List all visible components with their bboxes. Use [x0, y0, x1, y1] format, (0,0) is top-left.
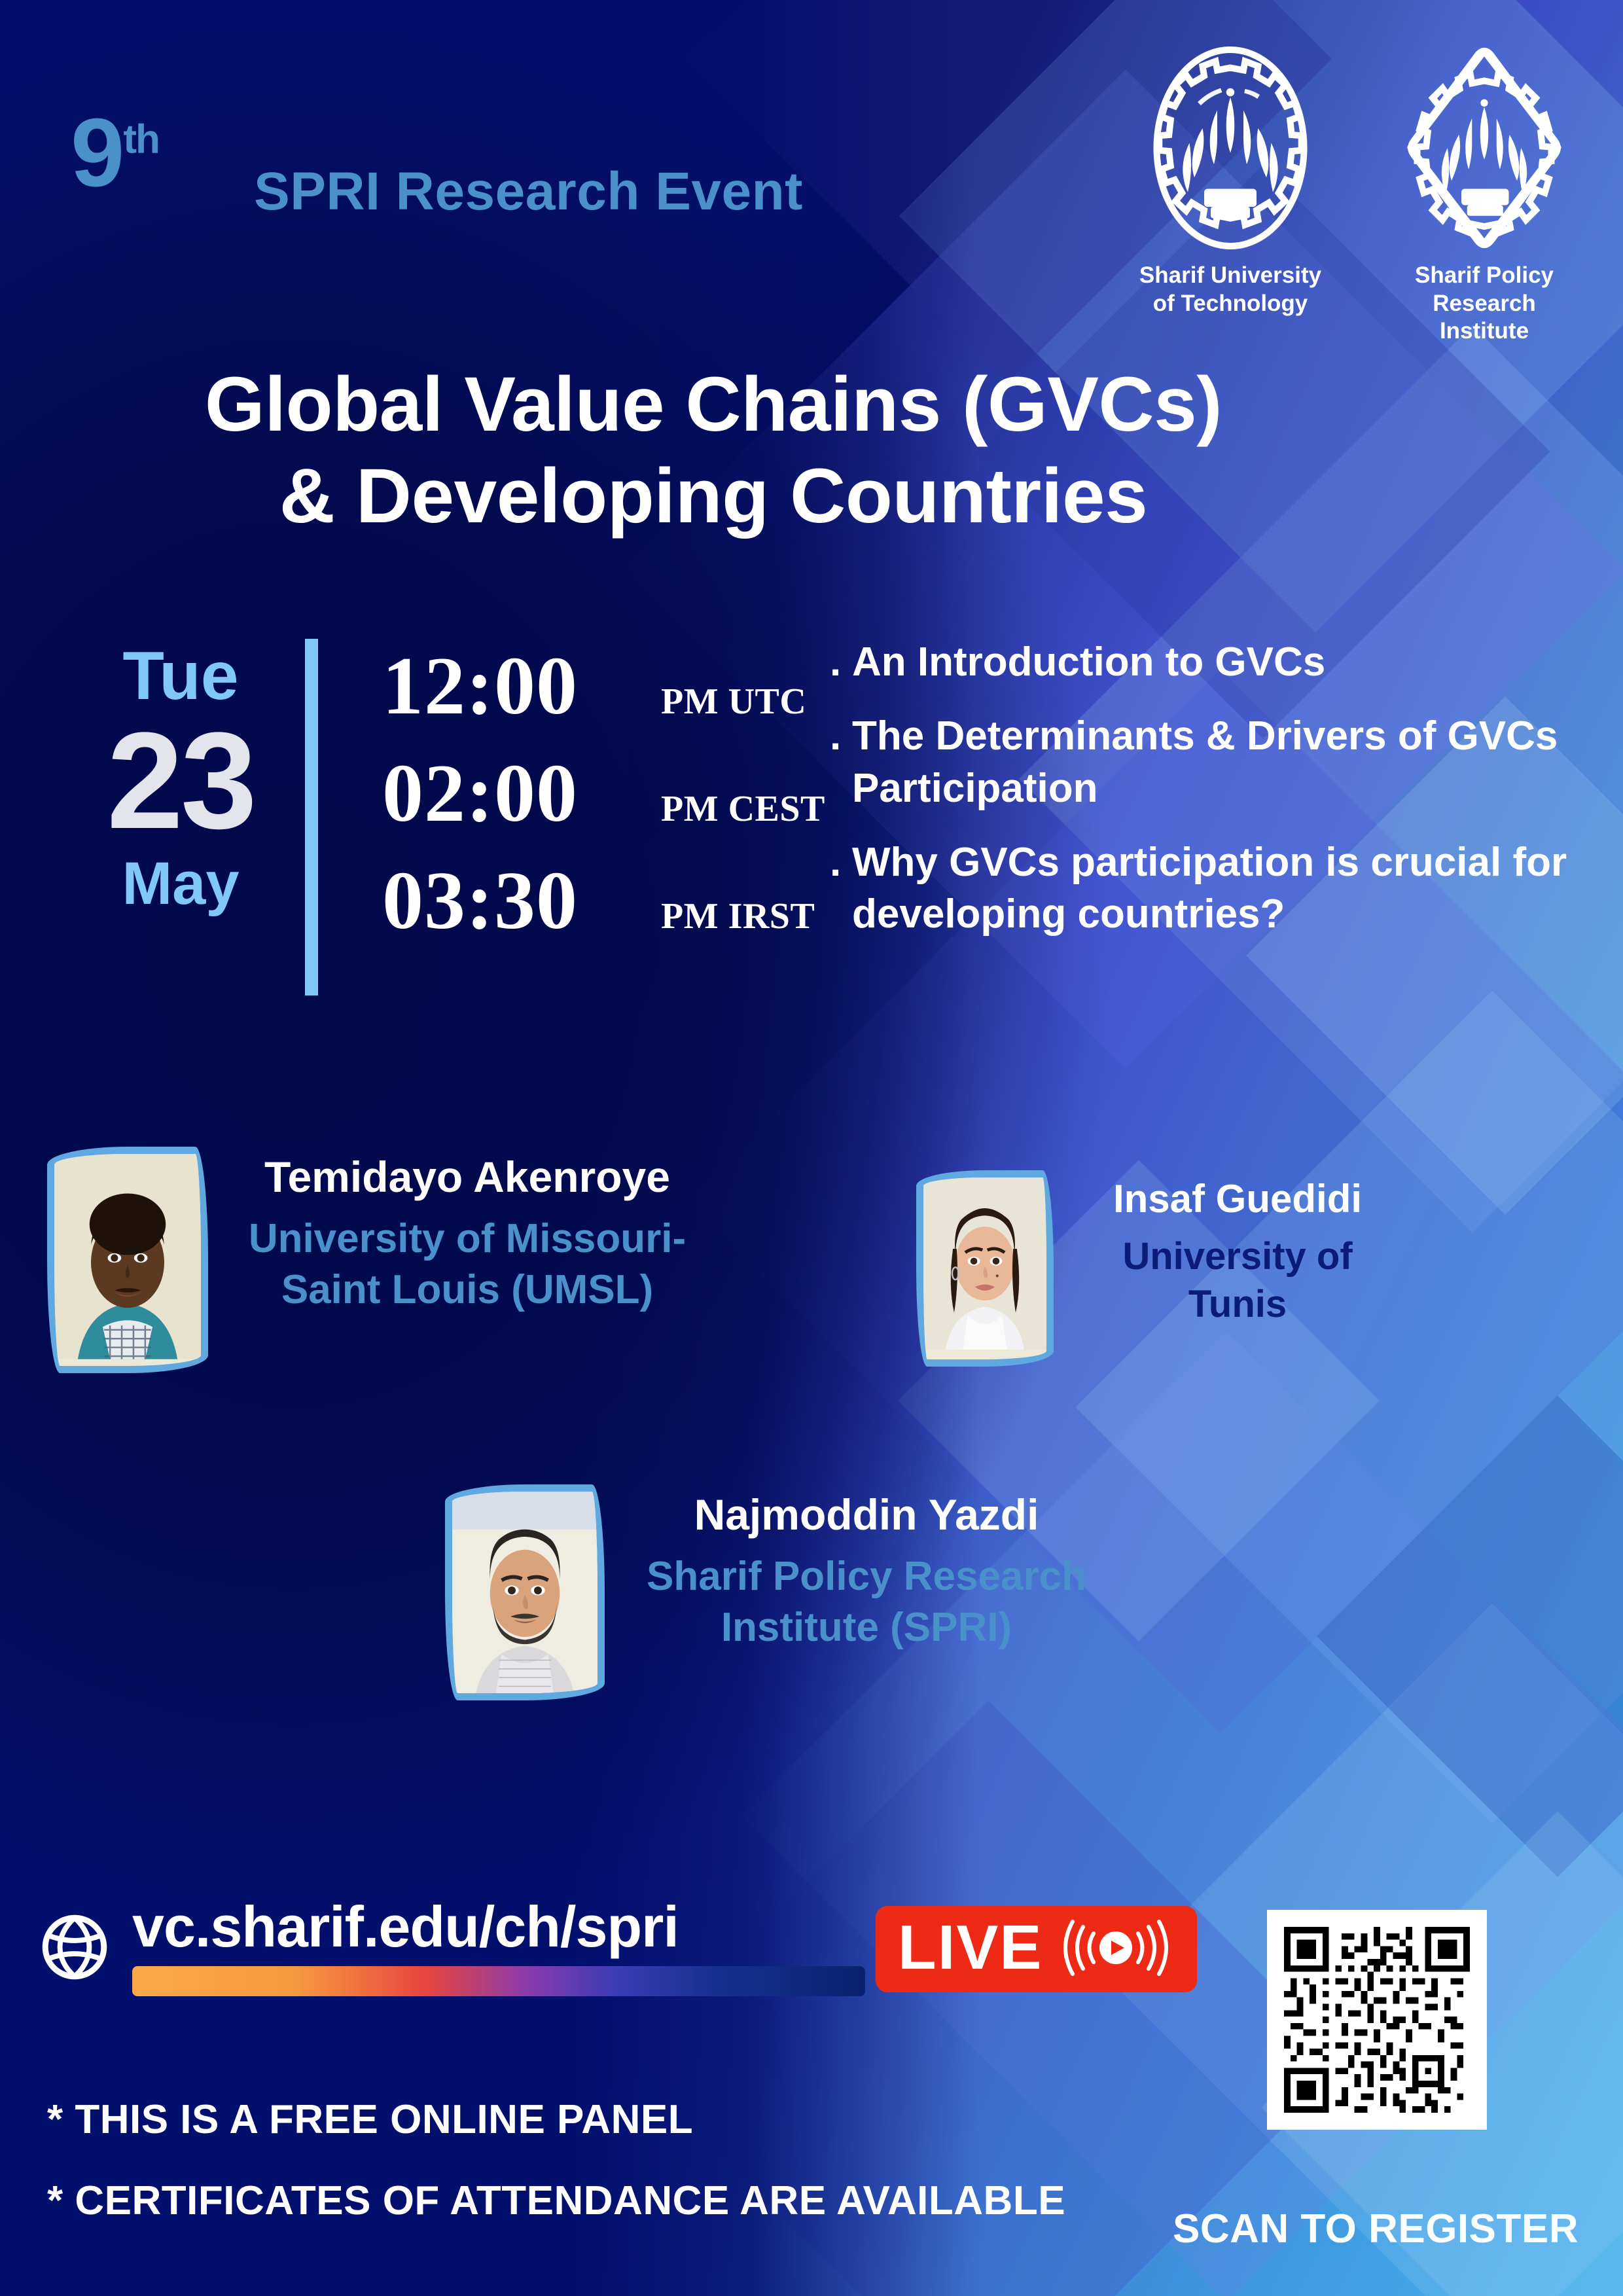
logo-sharif-university: Sharif University of Technology: [1132, 43, 1329, 346]
bullet-dot-icon: .: [830, 710, 852, 762]
speaker-affiliation: University of Missouri-Saint Louis (UMSL…: [238, 1213, 696, 1316]
qr-code-container[interactable]: [1267, 1910, 1487, 2130]
live-label: LIVE: [898, 1916, 1043, 1979]
footnote-item: * THIS IS A FREE ONLINE PANEL: [47, 2100, 1065, 2140]
time-row: 12:00 PM UTC: [382, 645, 825, 728]
speaker-card: Temidayo Akenroye University of Missouri…: [47, 1147, 696, 1373]
date-month: May: [56, 851, 305, 917]
speaker-photo-frame: [445, 1484, 605, 1700]
live-badge: LIVE: [876, 1906, 1197, 1992]
topic-label: An Introduction to GVCs: [852, 636, 1602, 688]
speaker-card: Najmoddin Yazdi Sharif Policy Research I…: [445, 1484, 1096, 1700]
footnote-list: * THIS IS A FREE ONLINE PANEL * CERTIFIC…: [47, 2100, 1065, 2262]
time-zone: PM IRST: [661, 895, 815, 937]
logo-group: Sharif University of Technology: [1132, 43, 1582, 346]
sharif-university-gear-emblem-icon: [1149, 43, 1312, 253]
date-day-number: 23: [56, 712, 305, 850]
topic-label: Why GVCs participation is crucial for de…: [852, 836, 1602, 941]
event-ordinal-suffix: th: [123, 117, 159, 162]
qr-caption: SCAN TO REGISTER: [1153, 2206, 1598, 2252]
portrait-temidayo-akenroye-icon: [54, 1154, 201, 1359]
topic-item: . An Introduction to GVCs: [830, 636, 1602, 688]
event-poster: 9th SPRI Research Event: [0, 0, 1623, 2296]
speaker-card: Insaf Guedidi University of Tunis: [916, 1170, 1391, 1367]
event-link-row[interactable]: vc.sharif.edu/ch/spri: [38, 1898, 865, 1996]
poster-title: Global Value Chains (GVCs) & Developing …: [0, 359, 1427, 543]
bullet-dot-icon: .: [830, 636, 852, 688]
time-value: 02:00: [382, 753, 644, 835]
url-gradient-underline: [132, 1966, 865, 1996]
date-block: Tue 23 May: [56, 628, 305, 917]
speaker-info: Insaf Guedidi University of Tunis: [1084, 1170, 1391, 1328]
speaker-name: Insaf Guedidi: [1084, 1177, 1391, 1221]
time-zone: PM UTC: [661, 681, 806, 723]
logo-caption-sharif-university: Sharif University of Technology: [1139, 262, 1321, 317]
speaker-name: Najmoddin Yazdi: [637, 1491, 1096, 1539]
sharif-policy-institute-diamond-emblem-icon: [1402, 43, 1566, 253]
event-url[interactable]: vc.sharif.edu/ch/spri: [132, 1898, 865, 1956]
date-time-block: Tue 23 May 12:00 PM UTC 02:00 PM CEST 03…: [56, 628, 825, 996]
time-row: 02:00 PM CEST: [382, 753, 825, 835]
bullet-dot-icon: .: [830, 836, 852, 888]
topic-list: . An Introduction to GVCs . The Determin…: [830, 636, 1602, 963]
globe-icon: [38, 1910, 111, 1984]
topic-label: The Determinants & Drivers of GVCs Parti…: [852, 710, 1602, 814]
topic-item: . Why GVCs participation is crucial for …: [830, 836, 1602, 941]
logo-caption-line2: of Technology: [1139, 290, 1321, 318]
footnote-item: * CERTIFICATES OF ATTENDANCE ARE AVAILAB…: [47, 2181, 1065, 2221]
poster-title-line2: & Developing Countries: [0, 450, 1427, 542]
qr-code-icon: [1284, 1927, 1470, 2113]
logo-caption-line2: Research Institute: [1386, 290, 1582, 346]
portrait-najmoddin-yazdi-icon: [452, 1492, 597, 1695]
logo-caption-sharif-policy-institute: Sharif Policy Research Institute: [1386, 262, 1582, 346]
poster-title-line1: Global Value Chains (GVCs): [0, 359, 1427, 450]
event-ordinal: 9th: [71, 105, 159, 202]
time-value: 12:00: [382, 645, 644, 728]
logo-caption-line1: Sharif University: [1139, 262, 1321, 290]
time-row: 03:30 PM IRST: [382, 860, 825, 942]
event-series-title: SPRI Research Event: [254, 165, 803, 219]
time-value: 03:30: [382, 860, 644, 942]
speaker-info: Najmoddin Yazdi Sharif Policy Research I…: [637, 1484, 1096, 1653]
time-zone: PM CEST: [661, 788, 825, 830]
broadcast-play-icon: [1057, 1916, 1175, 1979]
date-day-of-week: Tue: [56, 640, 305, 712]
avatar: [47, 1147, 208, 1373]
logo-caption-line1: Sharif Policy: [1386, 262, 1582, 290]
speaker-info: Temidayo Akenroye University of Missouri…: [238, 1147, 696, 1316]
speaker-photo-frame: [47, 1147, 208, 1373]
avatar: [916, 1170, 1054, 1367]
event-link-block: vc.sharif.edu/ch/spri: [132, 1898, 865, 1996]
vertical-divider: [305, 639, 318, 996]
logo-sharif-policy-institute: Sharif Policy Research Institute: [1386, 43, 1582, 346]
speaker-affiliation: University of Tunis: [1084, 1232, 1391, 1328]
speaker-affiliation: Sharif Policy Research Institute (SPRI): [637, 1551, 1096, 1653]
topic-item: . The Determinants & Drivers of GVCs Par…: [830, 710, 1602, 814]
speaker-name: Temidayo Akenroye: [238, 1153, 696, 1202]
time-list: 12:00 PM UTC 02:00 PM CEST 03:30 PM IRST: [382, 628, 825, 967]
avatar: [445, 1484, 605, 1700]
portrait-insaf-guedidi-icon: [923, 1177, 1046, 1350]
event-ordinal-number: 9: [71, 99, 123, 207]
speaker-photo-frame: [916, 1170, 1054, 1367]
